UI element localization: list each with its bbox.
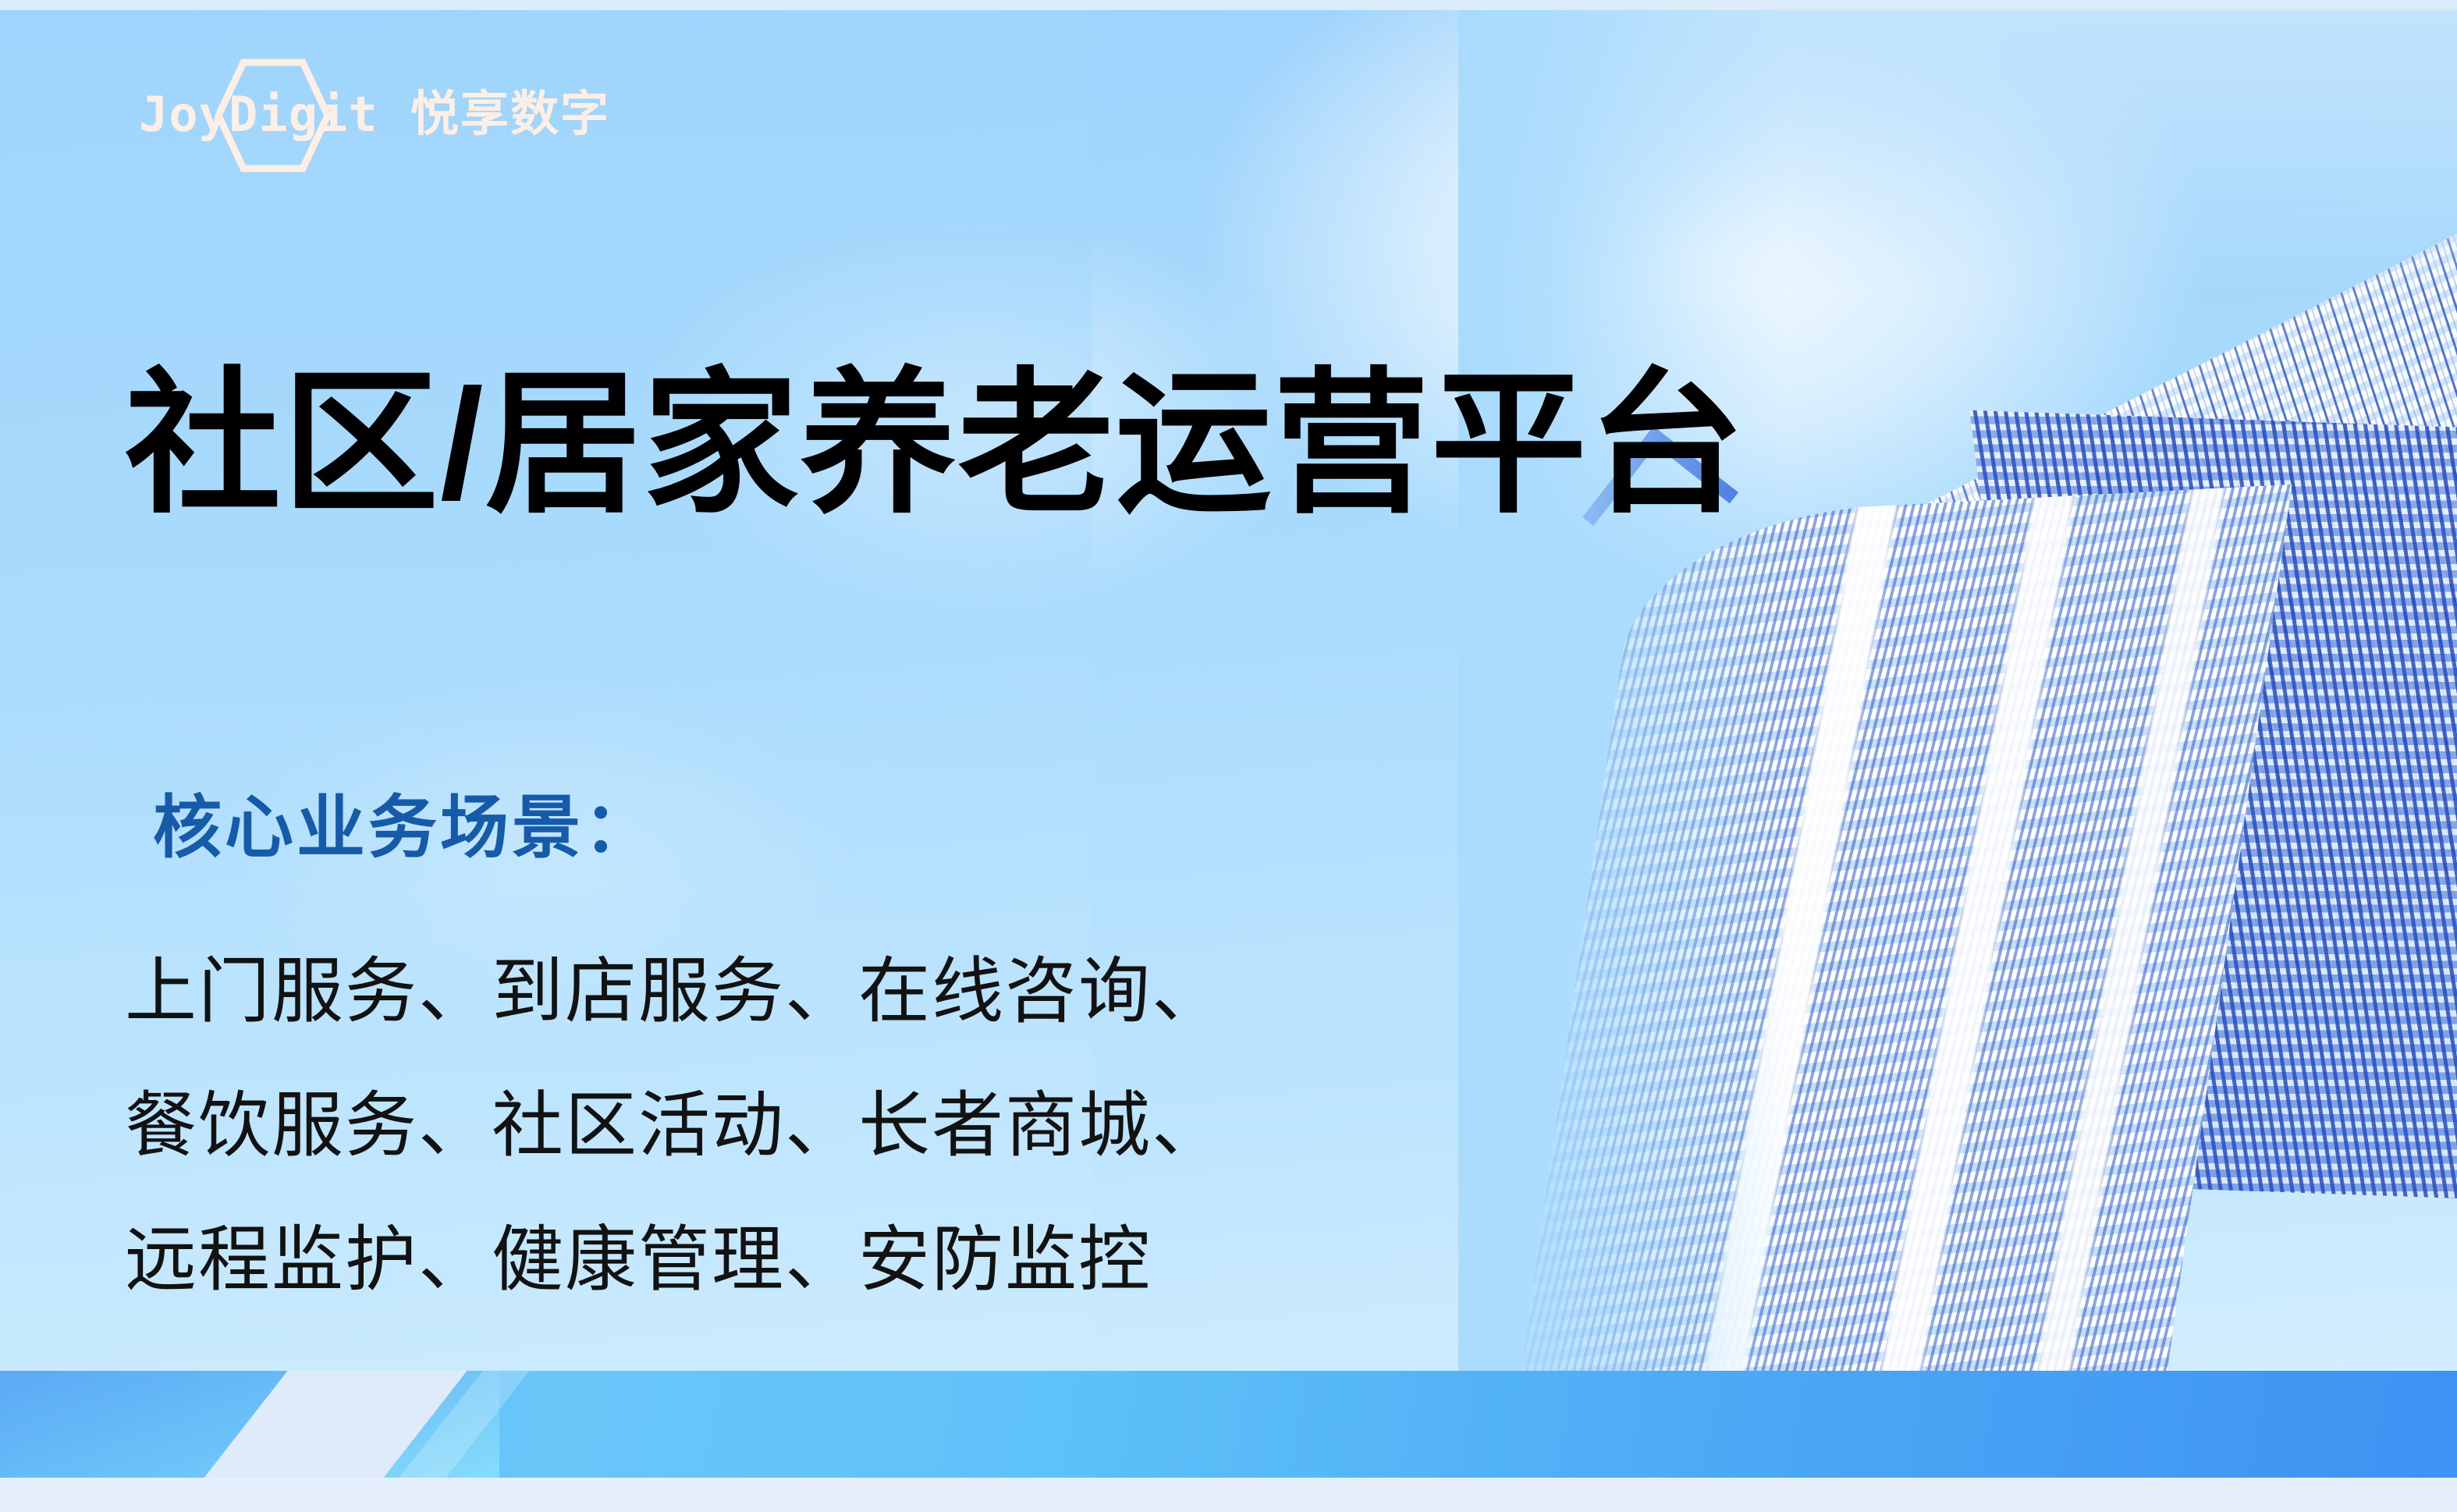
bottom-decorative-band bbox=[0, 1371, 2457, 1512]
logo-mark: JoyDigit bbox=[139, 72, 404, 158]
band-footer-strip bbox=[0, 1478, 2457, 1512]
logo-wordmark-latin: JoyDigit bbox=[139, 91, 378, 139]
scenario-line: 远程监护、健康管理、安防监控 bbox=[125, 1193, 1225, 1327]
brand-logo: JoyDigit 悦享数字 bbox=[139, 72, 610, 158]
page-title: 社区/居家养老运营平台 bbox=[125, 362, 1746, 527]
skyscraper-photo bbox=[1458, 10, 2457, 1383]
photo-left-fade bbox=[1458, 10, 1786, 1383]
top-edge-strip bbox=[0, 0, 2457, 10]
scenario-line: 餐饮服务、社区活动、长者商城、 bbox=[125, 1059, 1225, 1193]
section-subtitle: 核心业务场景： bbox=[153, 772, 655, 871]
scenario-list: 上门服务、到店服务、在线咨询、 餐饮服务、社区活动、长者商城、 远程监护、健康管… bbox=[125, 925, 1225, 1327]
scenario-line: 上门服务、到店服务、在线咨询、 bbox=[125, 925, 1225, 1059]
logo-wordmark-chinese: 悦享数字 bbox=[410, 91, 610, 139]
slide-root: JoyDigit 悦享数字 社区/居家养老运营平台 核心业务场景： 上门服务、到… bbox=[0, 0, 2457, 1512]
